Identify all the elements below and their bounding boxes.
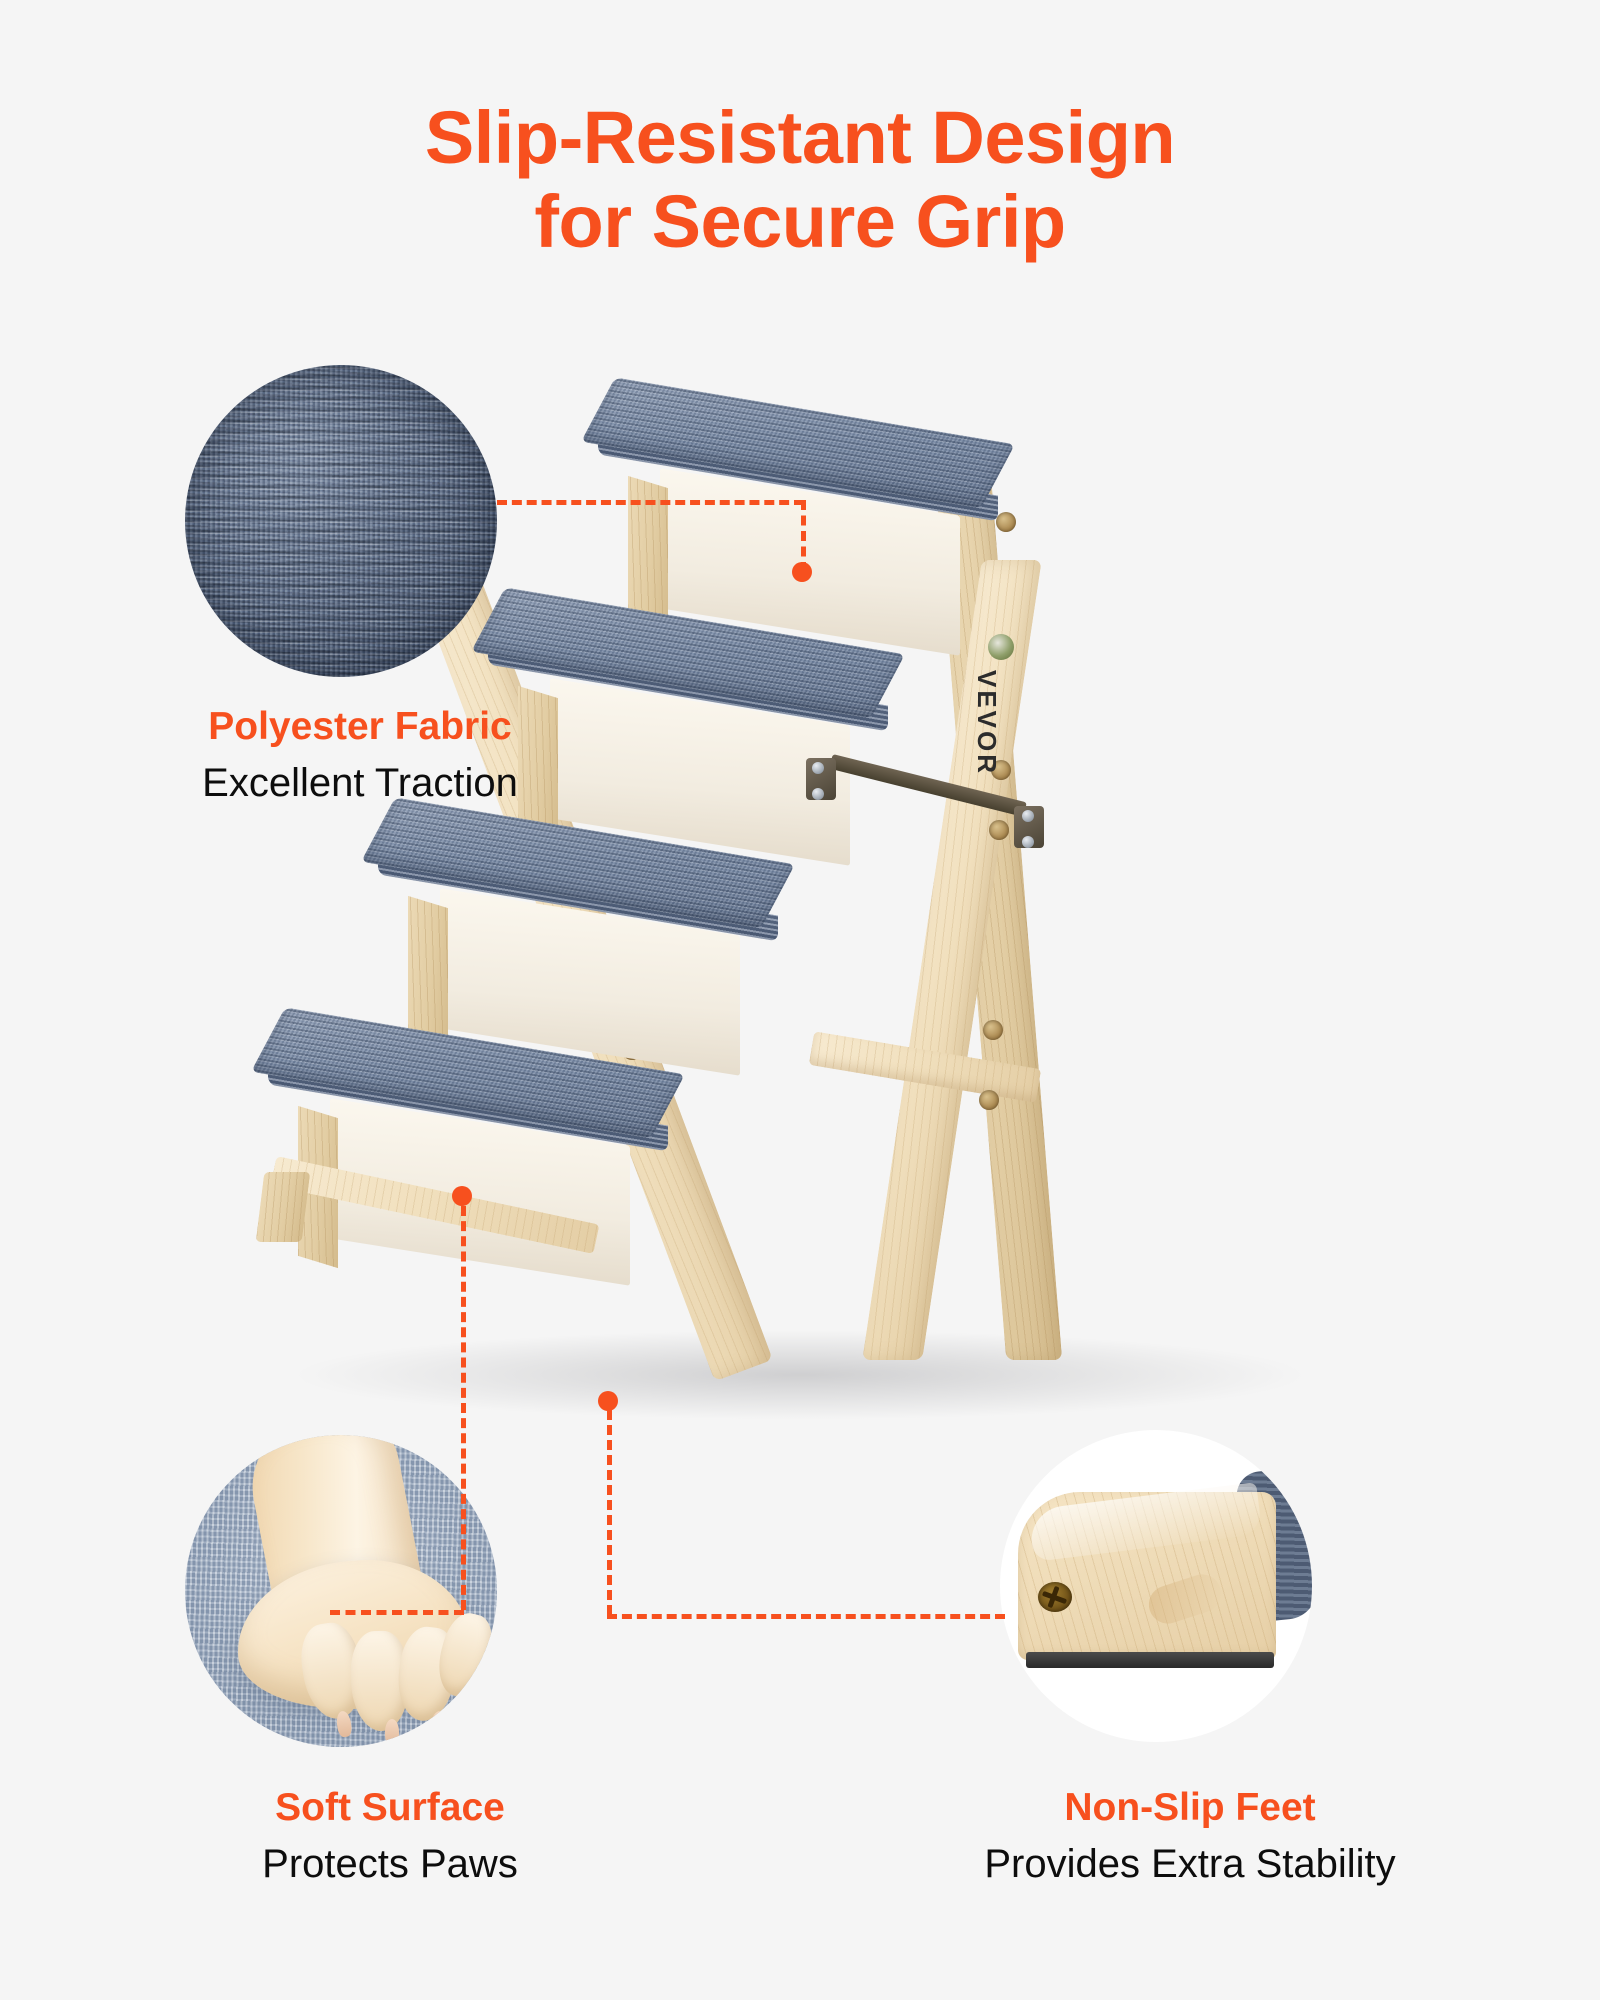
callout-polyester-fabric: Polyester Fabric Excellent Traction — [0, 705, 720, 807]
connector-fabric-horizontal — [497, 500, 804, 505]
foot-rubber-pad — [1026, 1652, 1274, 1668]
brace-bolt — [1022, 810, 1034, 822]
callout-subtext: Provides Extra Stability — [820, 1840, 1560, 1888]
front-left-foot — [256, 1172, 311, 1242]
connector-dot-soft-surface — [452, 1186, 472, 1206]
vevor-logo: VEVOR — [971, 670, 1002, 776]
page-title: Slip-Resistant Design for Secure Grip — [0, 96, 1600, 263]
connector-dot-fabric — [792, 562, 812, 582]
foot-screw-icon — [1038, 1582, 1072, 1612]
leg-hole — [996, 512, 1016, 532]
callout-heading: Polyester Fabric — [0, 705, 720, 750]
brace-bolt — [812, 788, 824, 800]
connector-soft-surface-vertical — [461, 1206, 466, 1610]
callout-non-slip-feet: Non-Slip Feet Provides Extra Stability — [820, 1786, 1560, 1888]
paw-claw — [335, 1710, 352, 1738]
callout-subtext: Protects Paws — [30, 1840, 750, 1888]
dog-paw-image — [185, 1435, 497, 1747]
leg-hole — [983, 1020, 1003, 1040]
callout-heading: Soft Surface — [30, 1786, 750, 1831]
title-line-2: for Secure Grip — [0, 180, 1600, 264]
non-slip-foot-image — [1000, 1430, 1312, 1742]
infographic-canvas: Slip-Resistant Design for Secure Grip VE… — [0, 0, 1600, 2000]
connector-feet-horizontal — [607, 1614, 1005, 1619]
paw-claw — [385, 1719, 399, 1745]
brace-bolt — [812, 762, 824, 774]
connector-dot-non-slip-feet — [598, 1391, 618, 1411]
leg-hole — [979, 1090, 999, 1110]
polyester-fabric-swatch-image — [185, 365, 497, 677]
title-line-1: Slip-Resistant Design — [425, 96, 1175, 179]
callout-heading: Non-Slip Feet — [820, 1786, 1560, 1831]
connector-feet-vertical — [607, 1410, 612, 1615]
connector-soft-surface-horizontal — [330, 1610, 464, 1615]
pivot-bolt — [988, 634, 1014, 660]
fabric-grain-overlay — [185, 365, 497, 677]
ground-shadow — [290, 1330, 1310, 1420]
brace-bolt — [1022, 836, 1034, 848]
callout-subtext: Excellent Traction — [0, 759, 720, 807]
leg-hole — [989, 820, 1009, 840]
callout-soft-surface: Soft Surface Protects Paws — [30, 1786, 750, 1888]
